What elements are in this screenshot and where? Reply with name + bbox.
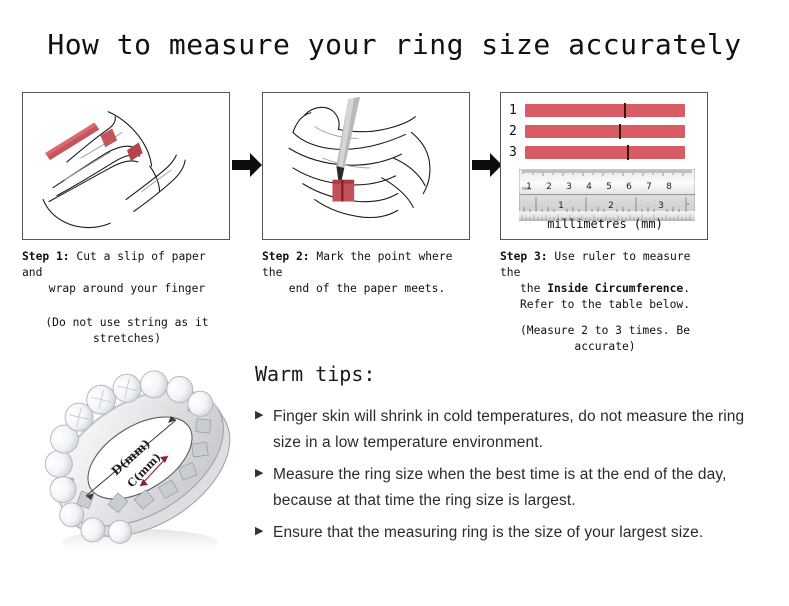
strip-bar [525,125,685,138]
hand-marking-paper-with-pen-icon [263,93,469,239]
step-2-caption: Step 2: Mark the point where the end of … [262,249,472,297]
svg-text:6: 6 [626,182,632,192]
step-3-line2: the Inside Circumference. [500,281,710,297]
step-2-column: Step 2: Mark the point where the end of … [262,92,472,297]
step-1-caption: Step 1: Cut a slip of paper and wrap aro… [22,249,232,297]
step-1-column: Step 1: Cut a slip of paper and wrap aro… [22,92,232,347]
bullet-arrow-icon: ▶ [255,404,273,420]
bullet-arrow-icon: ▶ [255,520,273,536]
strip-bar [525,104,685,117]
svg-text:7: 7 [646,182,652,192]
bullet-arrow-icon: ▶ [255,462,273,478]
step-1-line2: wrap around your finger [22,281,232,297]
warm-tip-item: ▶ Ensure that the measuring ring is the … [255,520,775,546]
step-1-illustration-panel [22,92,230,240]
step-3-label: Step 3: [500,250,548,263]
warm-tips-section: Warm tips: ▶ Finger skin will shrink in … [255,362,775,552]
paper-strip-row: 2 [509,123,705,140]
step-3-line2-tail: . [683,282,690,295]
step-1-note: (Do not use string as it stretches) [22,315,232,347]
step-3-column: 1 2 3 [500,92,710,355]
paper-strips-group: 1 2 3 [509,102,705,165]
strip-number: 1 [509,103,525,118]
hand-with-paper-slip-icon [23,93,229,239]
step-3-illustration-panel: 1 2 3 [500,92,708,240]
step-2-line2: end of the paper meets. [262,281,472,297]
pen-shape [336,97,360,182]
svg-text:5: 5 [606,182,612,192]
ruler-unit-label: millimetres (mm) [501,217,708,231]
svg-text:3: 3 [566,182,572,192]
diamond-eternity-ring-icon: D(mm) C(mm) [28,358,253,573]
svg-text:8: 8 [666,182,672,192]
ruler-graphic: 1 2 3 4 5 6 7 8 mm 1 2 3 [519,169,695,221]
paper-strip-row: 3 [509,144,705,161]
svg-text:4: 4 [586,182,592,192]
ring-size-guide-page: { "title": "How to measure your ring siz… [0,0,789,606]
paper-wrap-marked-shape [332,180,354,202]
step-3-line2-lead: the [520,282,547,295]
strip-mark [627,145,629,160]
step-2-illustration-panel [262,92,470,240]
strip-number: 3 [509,145,525,160]
ring-photo-figure: D(mm) C(mm) [28,358,253,573]
svg-text:mm: mm [522,187,531,192]
strip-mark [624,103,626,118]
strip-number: 2 [509,124,525,139]
warm-tip-text: Measure the ring size when the best time… [273,462,775,514]
step-2-label: Step 2: [262,250,310,263]
step-3-caption: Step 3: Use ruler to measure the the Ins… [500,249,710,313]
warm-tip-text: Ensure that the measuring ring is the si… [273,520,703,546]
arrow-step1-to-step2-icon [230,150,264,180]
steps-row: Step 1: Cut a slip of paper and wrap aro… [0,92,789,342]
svg-text:2: 2 [546,182,552,192]
svg-text:": " [687,203,689,209]
step-3-line3: Refer to the table below. [500,297,710,313]
step-3-note: (Measure 2 to 3 times. Be accurate) [500,323,710,355]
svg-text:1: 1 [558,201,564,211]
inside-circumference-emphasis: Inside Circumference [547,282,683,295]
strip-bar [525,146,685,159]
warm-tip-item: ▶ Measure the ring size when the best ti… [255,462,775,514]
warm-tip-item: ▶ Finger skin will shrink in cold temper… [255,404,775,456]
warm-tips-heading: Warm tips: [255,362,775,386]
strip-mark [619,124,621,139]
warm-tip-text: Finger skin will shrink in cold temperat… [273,404,775,456]
svg-text:3: 3 [658,201,664,211]
svg-text:2: 2 [608,201,614,211]
arrow-step2-to-step3-icon [470,150,504,180]
page-title: How to measure your ring size accurately [0,28,789,61]
step-1-label: Step 1: [22,250,70,263]
paper-strip-row: 1 [509,102,705,119]
